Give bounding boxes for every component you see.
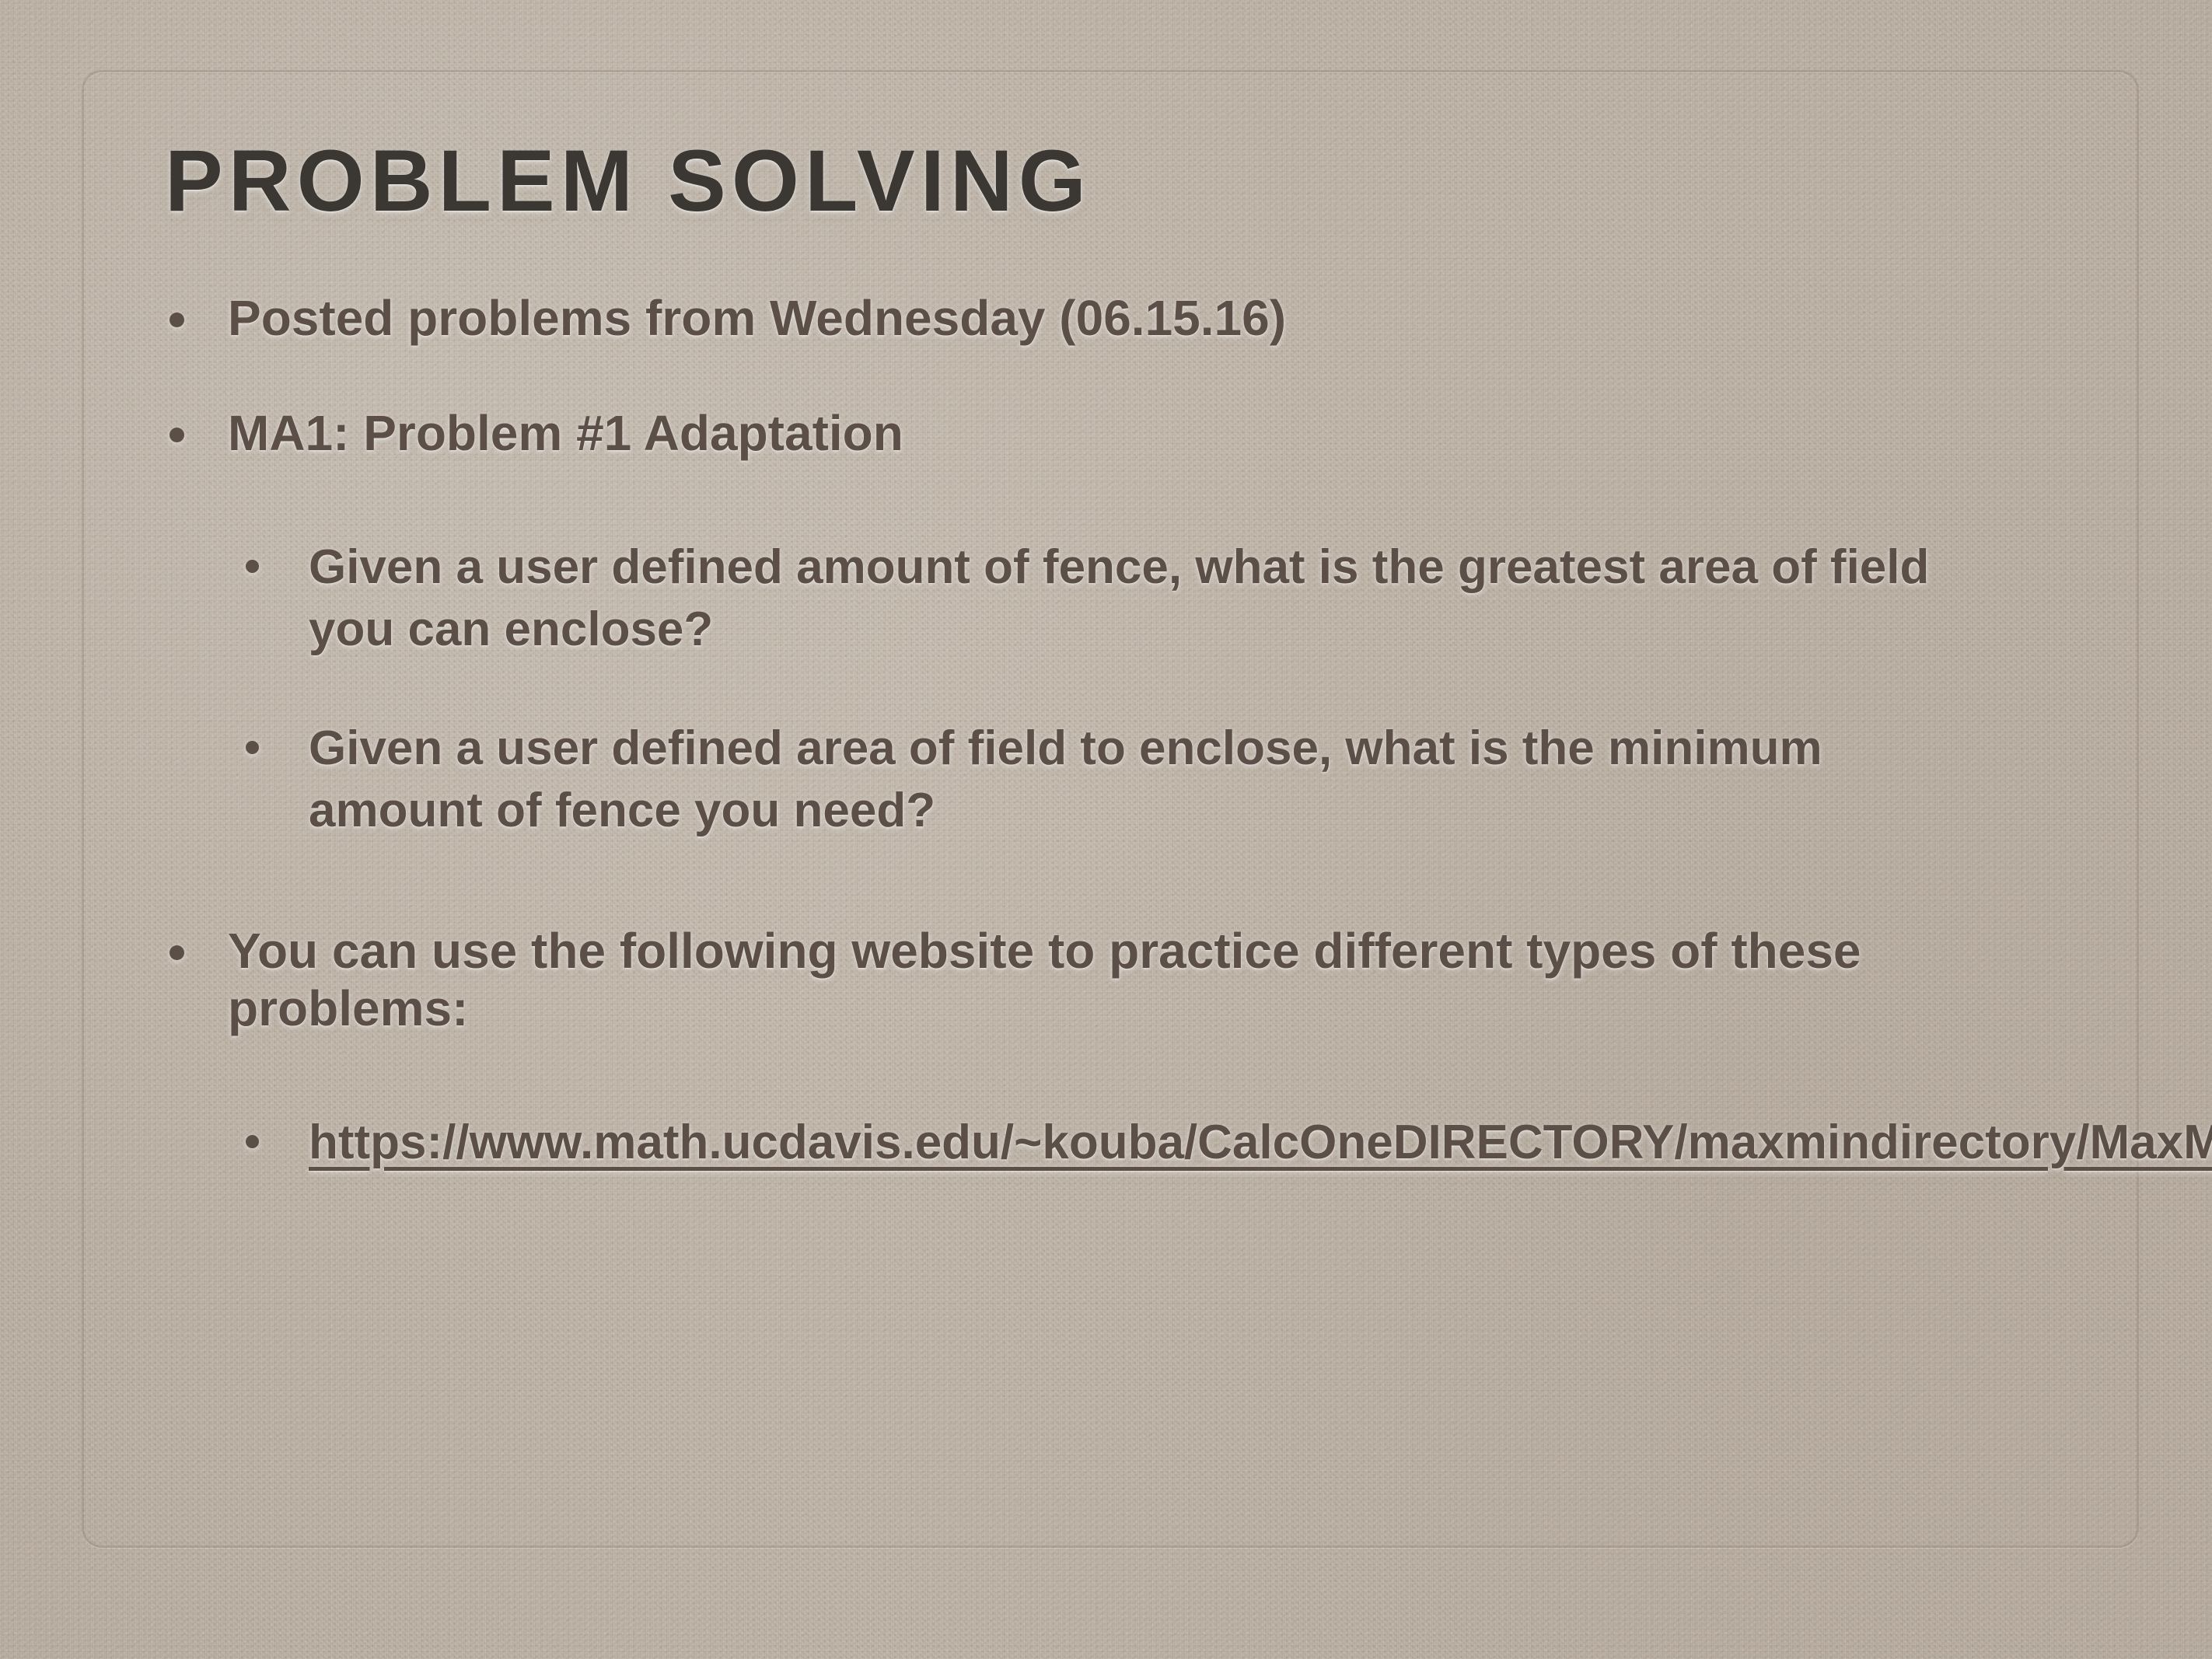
bullet-dot-icon: [246, 1135, 259, 1148]
bullet-item-max-area-question: Given a user defined amount of fence, wh…: [0, 536, 2212, 660]
bullet-item-posted-problems: Posted problems from Wednesday (06.15.16…: [0, 289, 2212, 347]
bullet-list: Posted problems from Wednesday (06.15.16…: [0, 289, 2212, 1221]
bullet-text: You can use the following website to pra…: [228, 922, 2016, 1037]
bullet-item-website-intro: You can use the following website to pra…: [0, 922, 2212, 1037]
bullet-item-practice-url[interactable]: https://www.math.ucdavis.edu/~kouba/Calc…: [0, 1112, 2212, 1173]
bullet-dot-icon: [169, 428, 184, 442]
bullet-text: Given a user defined amount of fence, wh…: [309, 536, 2004, 660]
bullet-item-ma1-adaptation: MA1: Problem #1 Adaptation: [0, 404, 2212, 462]
bullet-text: MA1: Problem #1 Adaptation: [228, 404, 903, 462]
bullet-dot-icon: [246, 560, 259, 573]
practice-url-link[interactable]: https://www.math.ucdavis.edu/~kouba/Calc…: [309, 1112, 2004, 1173]
bullet-text: Given a user defined area of field to en…: [309, 718, 2004, 841]
bullet-dot-icon: [169, 313, 184, 327]
slide-content: PROBLEM SOLVING Posted problems from Wed…: [0, 0, 2212, 1659]
bullet-text: Posted problems from Wednesday (06.15.16…: [228, 289, 1286, 347]
slide-title: PROBLEM SOLVING: [165, 131, 1092, 231]
bullet-item-min-fence-question: Given a user defined area of field to en…: [0, 718, 2212, 841]
bullet-dot-icon: [246, 741, 259, 754]
slide: PROBLEM SOLVING Posted problems from Wed…: [0, 0, 2212, 1659]
bullet-dot-icon: [169, 945, 184, 960]
